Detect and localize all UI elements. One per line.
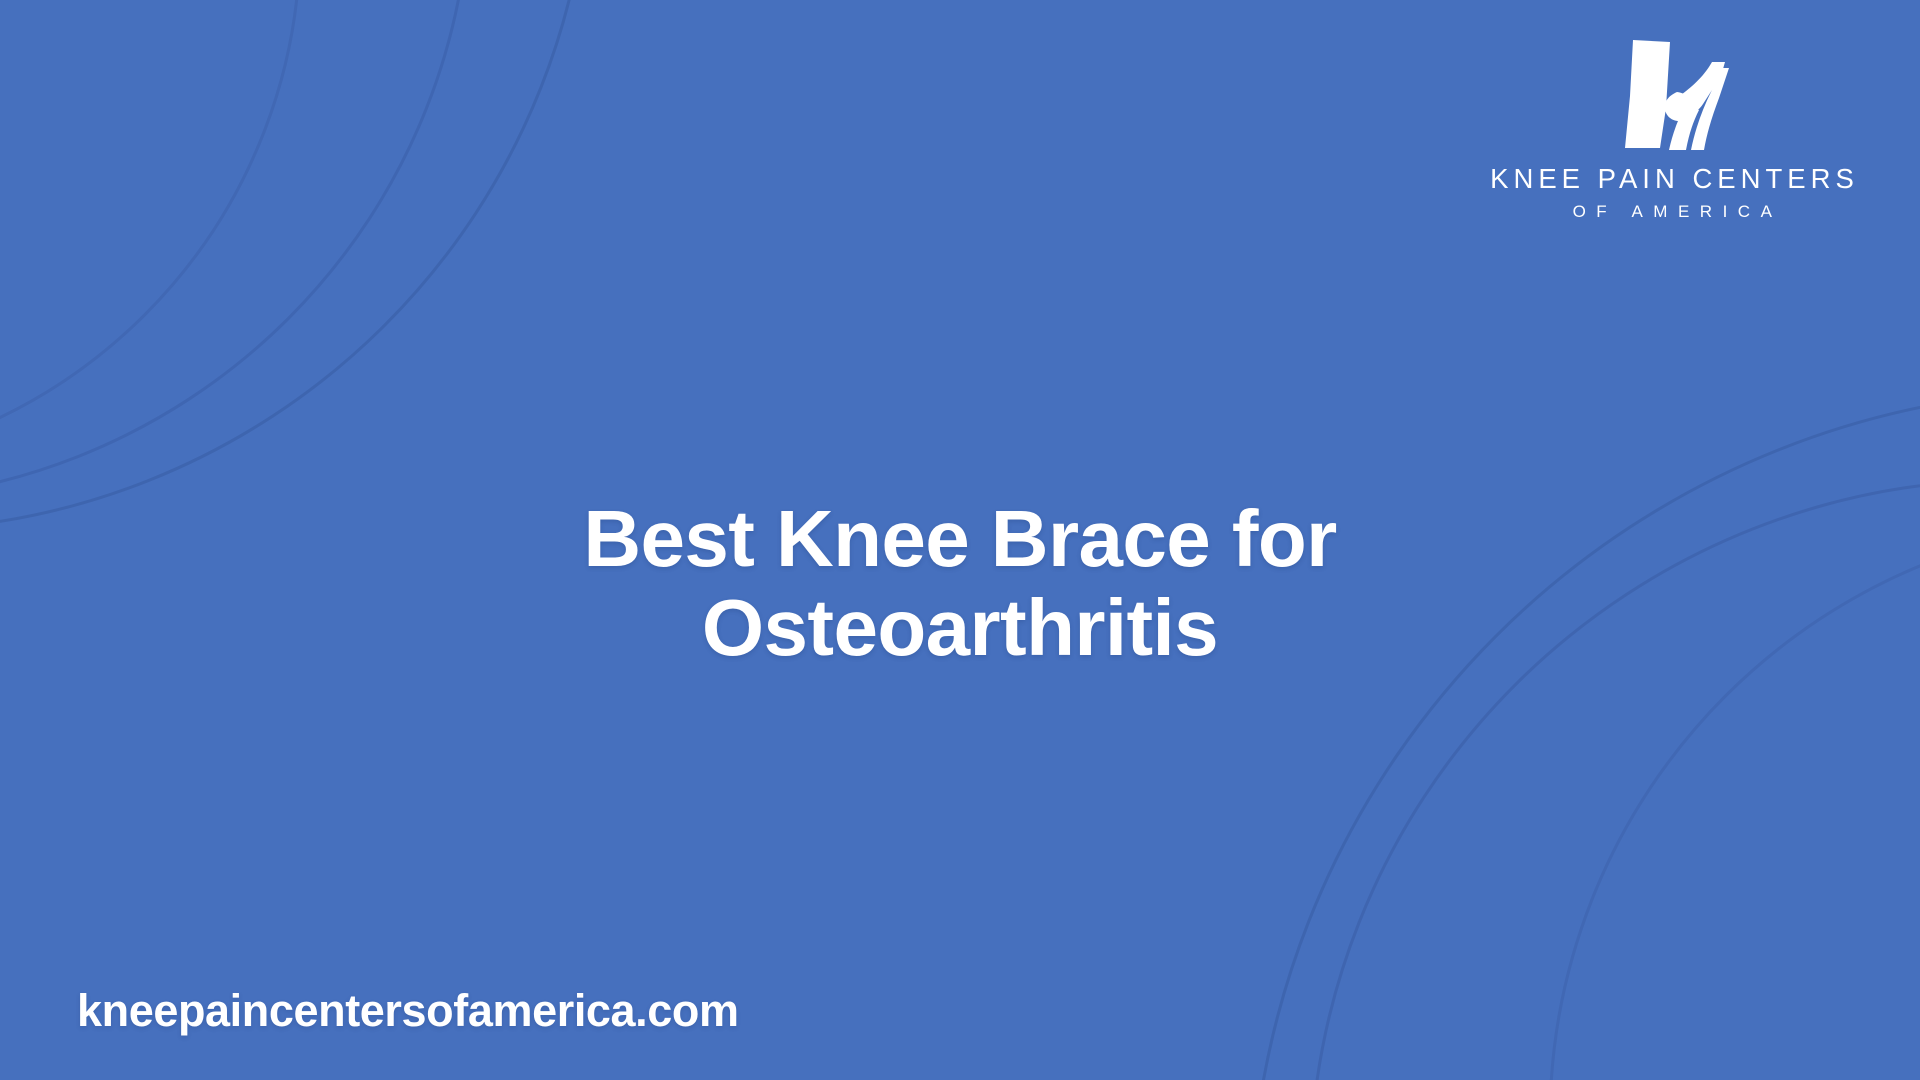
arc-top-left-outer <box>0 0 590 530</box>
promo-card: KNEE PAIN CENTERS OF AMERICA Best Knee B… <box>0 0 1920 1080</box>
knee-joint-k-icon <box>1611 36 1733 154</box>
brand-wordmark: KNEE PAIN CENTERS <box>1485 165 1859 193</box>
page-title-line-1: Best Knee Brace for <box>300 494 1620 584</box>
arc-top-left-inner <box>0 0 300 470</box>
brand-logo-lockup[interactable]: KNEE PAIN CENTERS OF AMERICA <box>1482 36 1862 220</box>
page-title-line-2: Osteoarthritis <box>300 583 1620 673</box>
site-url-label[interactable]: kneepaincentersofamerica.com <box>77 988 739 1033</box>
arc-top-left-middle <box>0 0 470 500</box>
brand-subwordmark: OF AMERICA <box>1562 203 1783 220</box>
page-title: Best Knee Brace for Osteoarthritis <box>0 494 1920 673</box>
